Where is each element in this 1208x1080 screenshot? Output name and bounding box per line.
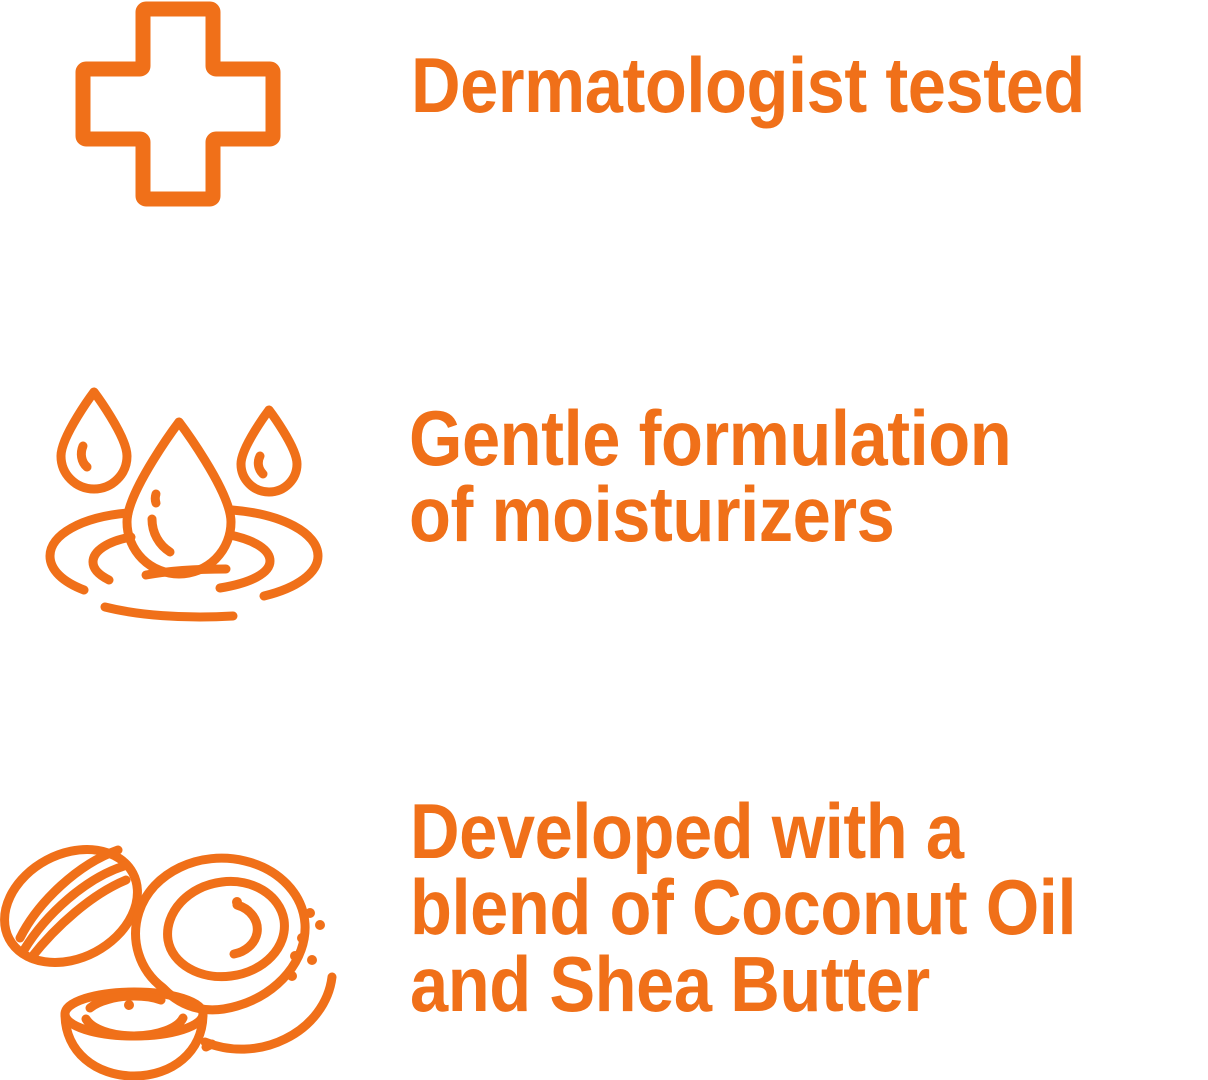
feature-text-wrap-coconut-shea: Developed with a blend of Coconut Oil an… [410,793,1208,1022]
coconut-icon [0,828,348,1078]
product-benefits-panel: Dermatologist tested [0,0,1208,1080]
feature-text-wrap-dermatologist: Dermatologist tested [411,47,1208,123]
feature-label-dermatologist-tested: Dermatologist tested [411,47,1115,123]
water-droplets-ripple-icon [38,374,330,636]
feature-row-dermatologist-tested: Dermatologist tested [0,0,1208,300]
feature-row-coconut-shea: Developed with a blend of Coconut Oil an… [0,790,1208,1080]
feature-label-coconut-shea: Developed with a blend of Coconut Oil an… [410,793,1132,1022]
feature-text-wrap-gentle-formulation: Gentle formulation of moisturizers [409,400,1208,553]
feature-label-gentle-formulation: Gentle formulation of moisturizers [409,400,1113,553]
feature-row-gentle-formulation: Gentle formulation of moisturizers [0,360,1208,660]
medical-cross-icon [76,2,280,206]
